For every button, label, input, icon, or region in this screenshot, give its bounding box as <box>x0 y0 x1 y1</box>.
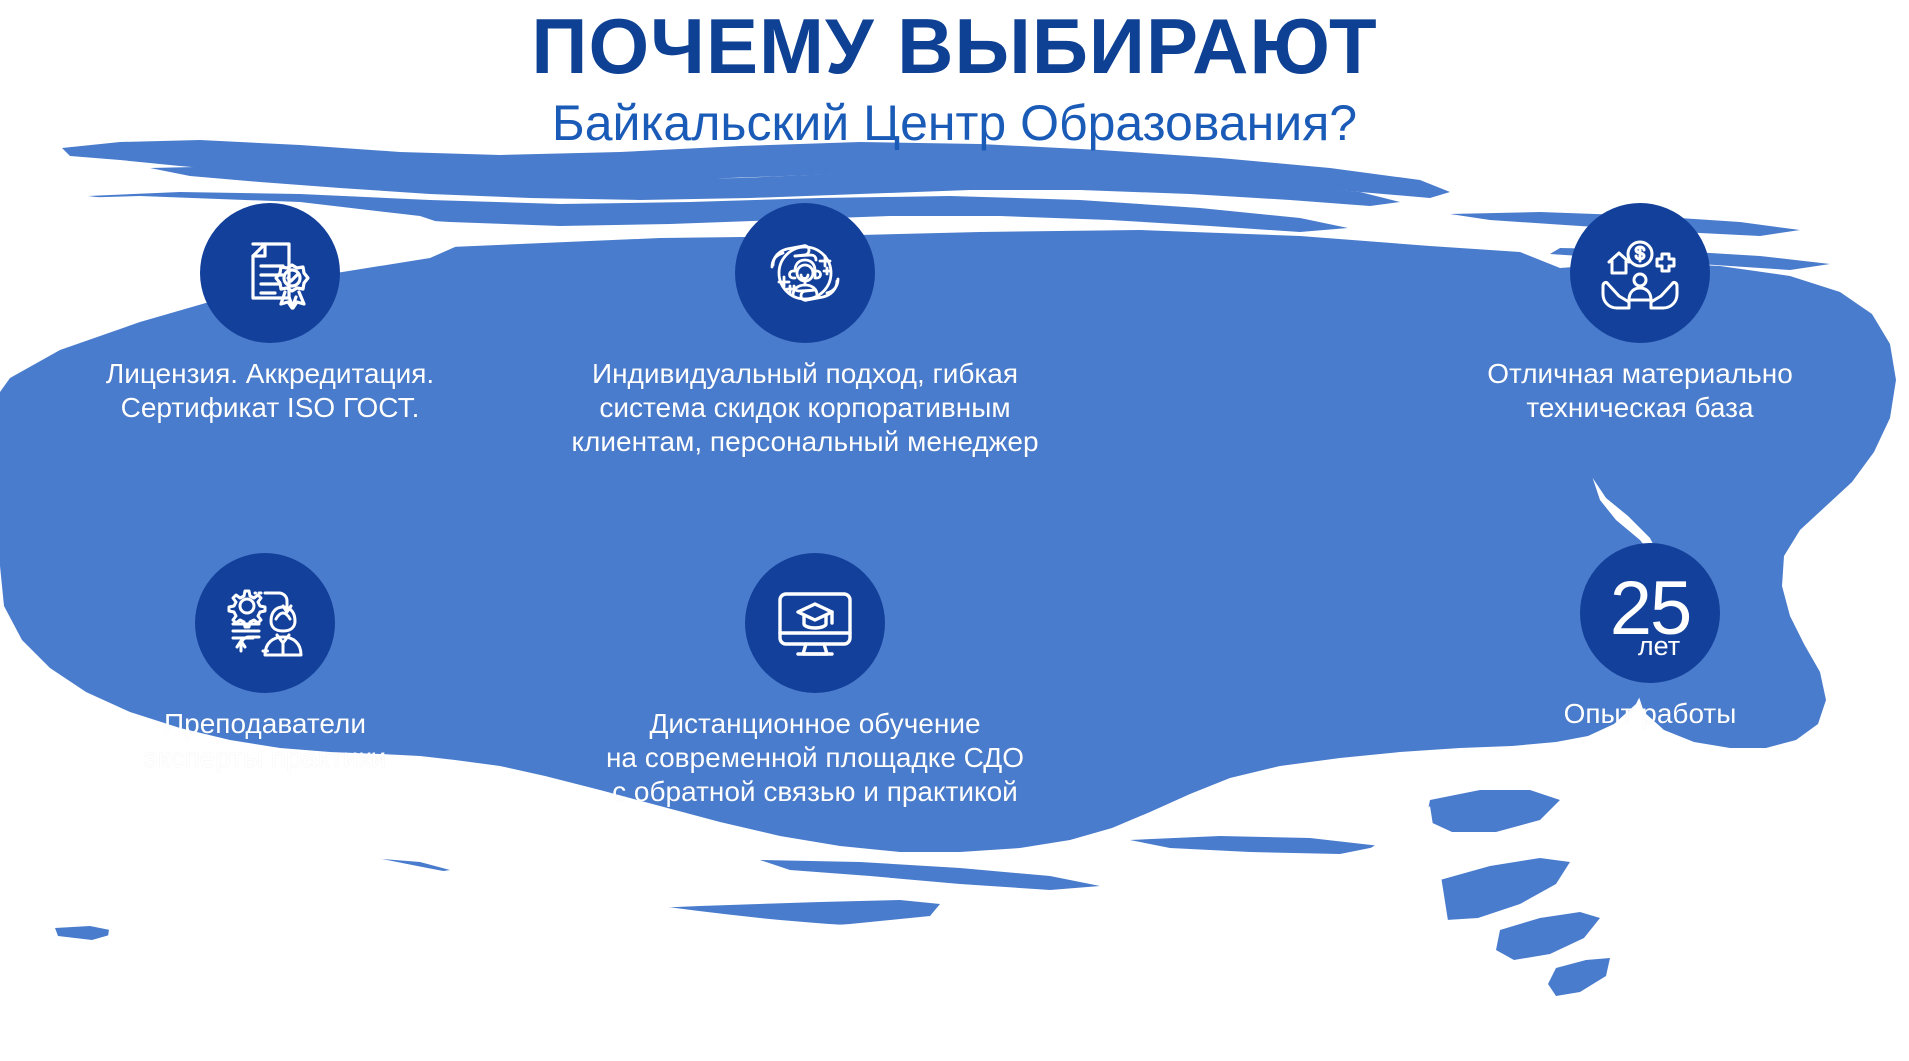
feature-icon-badge <box>195 553 335 693</box>
hands-benefits-icon <box>1595 228 1685 318</box>
feature-item-material-base: Отличная материально техническая база <box>1380 203 1900 425</box>
years-word: лет <box>1638 633 1680 660</box>
feature-icon-badge <box>1570 203 1710 343</box>
feature-text: Лицензия. Аккредитация. Сертификат ISO Г… <box>60 357 480 425</box>
certificate-icon <box>227 230 313 316</box>
feature-item-individual-approach: Индивидуальный подход, гибкая система ск… <box>545 203 1065 459</box>
feature-item-distance-learning: Дистанционное обучение на современной пл… <box>555 553 1075 809</box>
page-header: ПОЧЕМУ ВЫБИРАЮТ Байкальский Центр Образо… <box>0 0 1909 152</box>
feature-text: Преподаватели эксперты практики <box>55 707 475 775</box>
brush-stroke-background <box>0 0 1909 1061</box>
feature-text: Индивидуальный подход, гибкая система ск… <box>545 357 1065 459</box>
page-subtitle: Байкальский Центр Образования? <box>0 88 1909 152</box>
feature-text: Отличная материально техническая база <box>1380 357 1900 425</box>
feature-icon-badge <box>745 553 885 693</box>
page-title: ПОЧЕМУ ВЫБИРАЮТ <box>0 0 1909 88</box>
feature-text: Дистанционное обучение на современной пл… <box>555 707 1075 809</box>
feature-item-teachers: Преподаватели эксперты практики <box>55 553 475 775</box>
feature-item-experience: 25 лет Опыт работы <box>1420 543 1880 731</box>
infographic-canvas: ПОЧЕМУ ВЫБИРАЮТ Байкальский Центр Образо… <box>0 0 1909 1061</box>
expert-gear-person-icon <box>221 579 309 667</box>
feature-icon-badge <box>200 203 340 343</box>
years-number-badge: 25 лет <box>1580 543 1720 683</box>
hands-person-support-icon <box>759 227 851 319</box>
feature-item-license: Лицензия. Аккредитация. Сертификат ISO Г… <box>60 203 480 425</box>
feature-icon-badge <box>735 203 875 343</box>
monitor-graduation-cap-icon <box>770 578 860 668</box>
feature-text: Опыт работы <box>1420 697 1880 731</box>
